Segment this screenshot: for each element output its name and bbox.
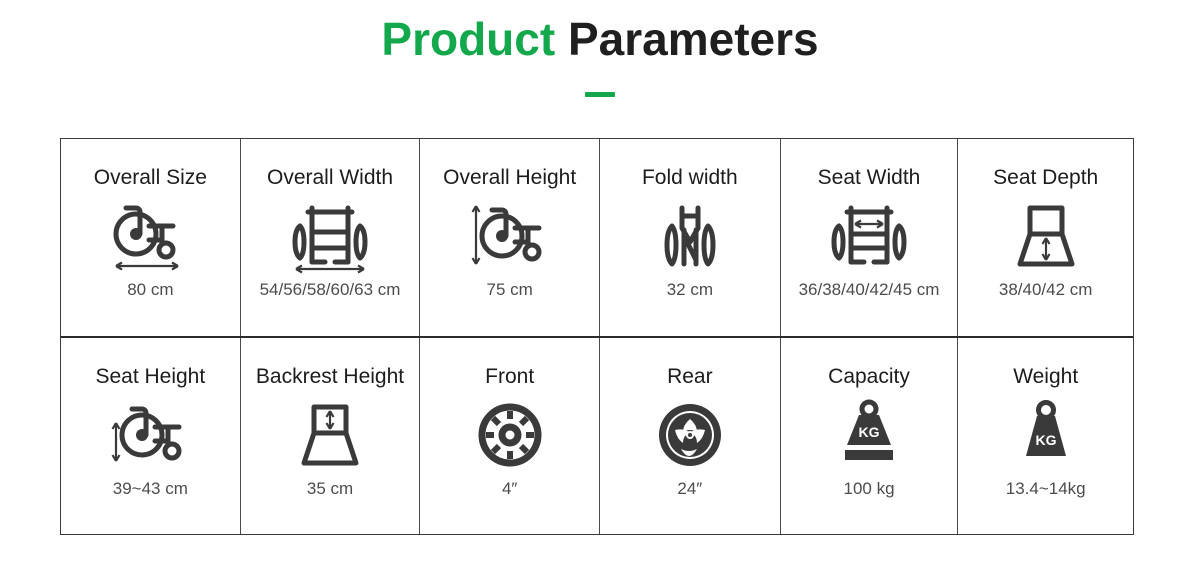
kg-label: KG (859, 424, 880, 440)
wheelchair-side-height-icon (462, 193, 558, 279)
page-title-block: Product Parameters (0, 8, 1200, 97)
spec-value: 32 cm (667, 279, 713, 301)
spec-value: 80 cm (127, 279, 173, 301)
spec-cell-seat-height: Seat Height 39~43 cm (61, 338, 241, 535)
spec-label: Capacity (828, 364, 910, 390)
spec-value: 39~43 cm (113, 478, 188, 500)
spec-value: 38/40/42 cm (999, 279, 1093, 301)
spec-label: Rear (667, 364, 713, 390)
kg-label: KG (1035, 432, 1056, 448)
spec-label: Seat Depth (993, 165, 1098, 191)
spec-cell-backrest-height: Backrest Height 35 cm (241, 338, 421, 535)
spec-value: 24″ (677, 478, 702, 500)
spec-label: Fold width (642, 165, 738, 191)
weight-kg-icon: KG (998, 392, 1094, 478)
wheelchair-seat-height-icon (102, 392, 198, 478)
page-title: Product Parameters (0, 8, 1200, 70)
table-row: Overall Size 80 cm (61, 139, 1133, 338)
wheelchair-side-width-icon (102, 193, 198, 279)
spec-label: Overall Height (443, 165, 576, 191)
front-caster-wheel-icon (462, 392, 558, 478)
spec-cell-overall-size: Overall Size 80 cm (61, 139, 241, 336)
wheelchair-folded-icon (642, 193, 738, 279)
weight-on-base-icon: KG (821, 392, 917, 478)
spec-value: 35 cm (307, 478, 353, 500)
spec-cell-fold-width: Fold width 32 cm (600, 139, 781, 336)
spec-cell-front-wheel: Front (420, 338, 600, 535)
spec-cell-seat-width: Seat Width (781, 139, 959, 336)
seat-depth-icon (998, 193, 1094, 279)
page-title-rest: Parameters (555, 13, 818, 65)
spec-cell-capacity: Capacity KG 100 kg (781, 338, 959, 535)
spec-table: Overall Size 80 cm (60, 138, 1134, 535)
backrest-height-icon (282, 392, 378, 478)
spec-label: Front (485, 364, 534, 390)
spec-cell-overall-height: Overall Height 75 cm (420, 139, 600, 336)
spec-value: 100 kg (843, 478, 894, 500)
spec-cell-weight: Weight KG 13.4~14kg (958, 338, 1133, 535)
spec-value: 4″ (502, 478, 517, 500)
spec-label: Backrest Height (256, 364, 404, 390)
spec-label: Weight (1013, 364, 1078, 390)
spec-cell-seat-depth: Seat Depth 38/40/42 cm (958, 139, 1133, 336)
spec-cell-overall-width: Overall Width (241, 139, 421, 336)
spec-value: 13.4~14kg (1006, 478, 1086, 500)
title-underline-rule (585, 92, 615, 97)
rear-wheel-icon (642, 392, 738, 478)
table-row: Seat Height 39~43 cm (61, 338, 1133, 535)
spec-cell-rear-wheel: Rear (600, 338, 781, 535)
spec-value: 36/38/40/42/45 cm (799, 279, 940, 301)
spec-value: 75 cm (487, 279, 533, 301)
spec-value: 54/56/58/60/63 cm (260, 279, 401, 301)
spec-label: Seat Width (818, 165, 921, 191)
spec-label: Seat Height (95, 364, 205, 390)
spec-label: Overall Width (267, 165, 393, 191)
page-title-highlight: Product (381, 13, 555, 65)
spec-label: Overall Size (94, 165, 207, 191)
seat-width-icon (821, 193, 917, 279)
wheelchair-front-width-icon (282, 193, 378, 279)
product-parameters-page: Product Parameters Overall Size (0, 0, 1200, 569)
